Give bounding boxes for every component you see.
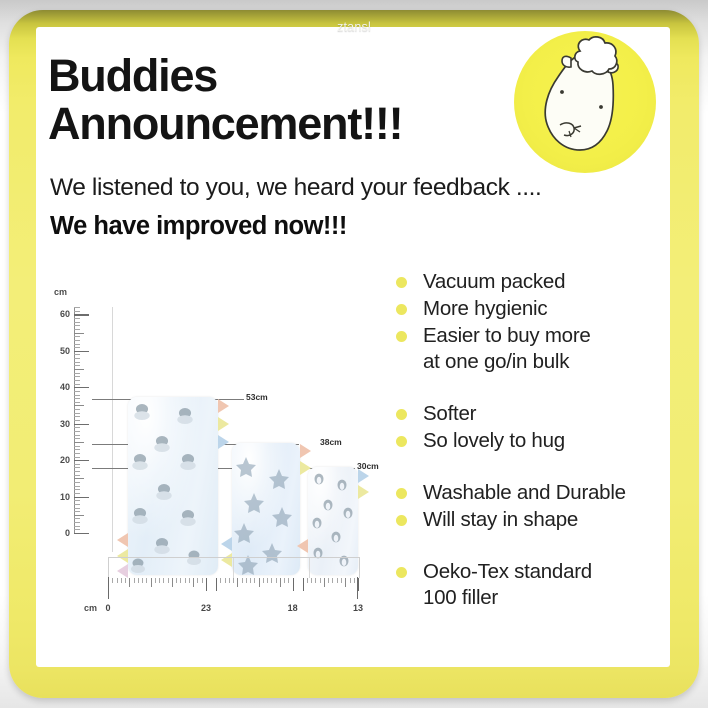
title-line-2: Announcement!!! [48, 100, 518, 148]
sheep-motif-pattern [128, 397, 218, 575]
list-item: So lovely to hug [392, 428, 662, 454]
subtitle-bold: We have improved now!!! [50, 212, 347, 241]
x-tick-minor [337, 578, 338, 583]
list-item-label: So lovely to hug [423, 429, 565, 452]
y-tick-minor [74, 522, 80, 523]
size-chart: cm 0102030405060 53cm 38cm 30cm [46, 287, 376, 632]
list-item-label: Oeko-Tex standard [423, 560, 592, 583]
x-tick-minor [233, 578, 234, 583]
x-tick-minor [146, 578, 147, 583]
feature-group-4: Oeko-Tex standard 100 filler [392, 559, 662, 611]
x-tick-minor [341, 578, 342, 583]
x-tick-minor [237, 578, 238, 587]
y-tick-label: 0 [65, 528, 70, 538]
x-tick-minor [320, 578, 321, 583]
list-item-label: Easier to buy more [423, 324, 591, 347]
y-tick-minor [74, 405, 84, 406]
y-axis-unit-label: cm [54, 287, 67, 297]
y-tick-minor [74, 475, 80, 476]
y-tick-label: 60 [60, 309, 70, 319]
list-item: Will stay in shape [392, 507, 662, 533]
y-tick-minor [74, 431, 80, 432]
x-tick-minor [229, 578, 230, 583]
y-tick-minor [74, 489, 80, 490]
pillow-large-tag-4 [117, 533, 128, 547]
y-tick-minor [74, 358, 80, 359]
list-item-label: More hygienic [423, 297, 547, 320]
y-tick-minor [74, 398, 80, 399]
feature-list: Vacuum packed More hygienic Easier to bu… [392, 269, 662, 612]
bullet-dot-icon [396, 409, 407, 420]
list-item: Easier to buy more at one go/in bulk [392, 323, 662, 375]
x-tick-minor [112, 578, 113, 583]
y-tick-major: 50 [74, 351, 89, 352]
pillow-medium [232, 443, 300, 575]
y-tick-minor [74, 391, 80, 392]
x-tick-minor [250, 578, 251, 583]
y-tick-minor [74, 413, 80, 414]
y-tick-minor [74, 333, 84, 334]
y-tick-minor [74, 384, 80, 385]
x-tick-minor [350, 578, 351, 583]
y-tick-minor [74, 376, 80, 377]
list-item-label-cont: 100 filler [423, 585, 662, 611]
bullet-dot-icon [396, 331, 407, 342]
y-tick-label: 40 [60, 382, 70, 392]
y-tick-minor [74, 518, 80, 519]
x-tick-minor [117, 578, 118, 583]
x-axis-unit-label: cm [84, 603, 97, 613]
y-tick-minor [74, 467, 80, 468]
x-tick-minor [180, 578, 181, 583]
y-tick-minor [74, 442, 84, 443]
x-tick-minor [271, 578, 272, 583]
y-tick-minor [74, 457, 80, 458]
y-tick-minor [74, 493, 80, 494]
subtitle: We listened to you, we heard your feedba… [50, 174, 541, 202]
pillow-large-tag-3 [218, 435, 229, 449]
x-tick-minor [193, 578, 194, 587]
x-tick-minor [280, 578, 281, 587]
x-tick-major [206, 578, 207, 591]
y-tick-minor [74, 373, 80, 374]
y-tick-minor [74, 486, 80, 487]
x-tick-minor [242, 578, 243, 583]
list-item: Oeko-Tex standard 100 filler [392, 559, 662, 611]
y-tick-minor [74, 464, 80, 465]
x-tick-minor [354, 578, 355, 583]
x-tick-minor [189, 578, 190, 583]
pillow-medium-tag-3 [221, 537, 232, 551]
y-tick-minor [74, 482, 80, 483]
x-tick-minor [159, 578, 160, 583]
list-item-label: Washable and Durable [423, 481, 626, 504]
bullet-dot-icon [396, 488, 407, 499]
list-item-label-cont: at one go/in bulk [423, 349, 662, 375]
x-tick-minor [284, 578, 285, 583]
y-tick-minor [74, 500, 80, 501]
x-tick-minor [254, 578, 255, 583]
x-tick-minor [129, 578, 130, 587]
x-tick-minor [202, 578, 203, 583]
feature-group-3: Washable and Durable Will stay in shape [392, 480, 662, 533]
x-tick-minor [332, 578, 333, 583]
bullet-dot-icon [396, 277, 407, 288]
x-tick-minor [134, 578, 135, 583]
list-item: Softer [392, 401, 662, 427]
pillow-small-tag-3 [297, 539, 308, 553]
y-tick-minor [74, 511, 80, 512]
x-tick-minor [324, 578, 325, 587]
poster-canvas: ztansl Buddies Announcement!!! We listen… [0, 0, 708, 708]
bracket-divider-2 [309, 558, 310, 578]
y-tick-major: 30 [74, 424, 89, 425]
y-tick-minor [74, 325, 80, 326]
list-item-label: Vacuum packed [423, 270, 565, 293]
y-tick-label: 20 [60, 455, 70, 465]
y-tick-label: 50 [60, 346, 70, 356]
x-tick-minor [138, 578, 139, 583]
y-tick-minor [74, 409, 80, 410]
x-tick-label: 23 [201, 603, 211, 613]
y-tick-minor [74, 449, 80, 450]
x-tick-minor [345, 578, 346, 587]
y-tick-minor [74, 347, 80, 348]
pillow-large-tag-1 [218, 399, 229, 413]
y-tick-minor [74, 420, 80, 421]
y-tick-minor [74, 478, 84, 479]
y-tick-minor [74, 395, 80, 396]
y-tick-minor [74, 402, 80, 403]
x-tick-minor [168, 578, 169, 583]
x-tick-minor [220, 578, 221, 583]
y-tick-major: 0 [74, 533, 89, 534]
y-tick-minor [74, 416, 80, 417]
bullet-dot-icon [396, 304, 407, 315]
y-tick-minor [74, 446, 80, 447]
x-tick-minor [142, 578, 143, 583]
x-tick-minor [259, 578, 260, 587]
y-tick-minor [74, 336, 80, 337]
x-tick-minor [172, 578, 173, 587]
vertical-ruler: 0102030405060 [74, 307, 93, 533]
y-tick-minor [74, 508, 80, 509]
list-item: Vacuum packed [392, 269, 662, 295]
x-tick-minor [328, 578, 329, 583]
x-tick-major [358, 578, 359, 591]
x-tick-minor [176, 578, 177, 583]
y-tick-minor [74, 307, 80, 308]
y-tick-minor [74, 435, 80, 436]
y-tick-minor [74, 362, 80, 363]
width-bracket [108, 557, 360, 578]
y-tick-minor [74, 471, 80, 472]
title-line-1: Buddies [48, 52, 518, 100]
y-tick-label: 10 [60, 492, 70, 502]
x-tick-minor [307, 578, 308, 583]
x-tick-label: 18 [288, 603, 298, 613]
pillow-small-tag-1 [358, 469, 369, 483]
watermark-text: ztansl [0, 20, 708, 34]
y-tick-minor [74, 369, 84, 370]
size-label-53: 53cm [246, 392, 268, 402]
size-label-38: 38cm [320, 437, 342, 447]
y-tick-minor [74, 453, 80, 454]
y-tick-minor [74, 438, 80, 439]
poster-card: Buddies Announcement!!! We listened to y… [36, 27, 670, 667]
y-tick-major: 60 [74, 314, 89, 315]
y-tick-major: 40 [74, 387, 89, 388]
list-item: Washable and Durable [392, 480, 662, 506]
pillow-large [128, 397, 218, 575]
y-tick-minor [74, 526, 80, 527]
chart-guide-line [112, 307, 113, 552]
y-tick-minor [74, 515, 84, 516]
y-tick-minor [74, 529, 80, 530]
feature-group-2: Softer So lovely to hug [392, 401, 662, 454]
x-tick-minor [263, 578, 264, 583]
pillow-large-tag-2 [218, 417, 229, 431]
y-tick-minor [74, 354, 80, 355]
x-tick-minor [121, 578, 122, 583]
x-tick-minor [276, 578, 277, 583]
x-tick-label: 13 [353, 603, 363, 613]
y-tick-minor [74, 311, 80, 312]
x-tick-minor [185, 578, 186, 583]
x-tick-minor [315, 578, 316, 583]
bullet-dot-icon [396, 567, 407, 578]
x-tick-minor [267, 578, 268, 583]
x-tick-minor [197, 578, 198, 583]
x-tick-major [108, 578, 109, 591]
y-tick-minor [74, 380, 80, 381]
y-tick-minor [74, 504, 80, 505]
sheep-icon [514, 31, 656, 173]
y-tick-minor [74, 427, 80, 428]
y-tick-major: 20 [74, 460, 89, 461]
x-tick-minor [288, 578, 289, 583]
bullet-dot-icon [396, 436, 407, 447]
pillow-medium-tag-1 [300, 444, 311, 458]
y-tick-minor [74, 344, 80, 345]
pillow-small-tag-2 [358, 485, 369, 499]
feature-group-1: Vacuum packed More hygienic Easier to bu… [392, 269, 662, 375]
y-tick-major: 10 [74, 497, 89, 498]
x-tick-label: 0 [105, 603, 110, 613]
page-title: Buddies Announcement!!! [48, 52, 518, 148]
list-item-label: Will stay in shape [423, 508, 578, 531]
star-motif-pattern [232, 443, 300, 575]
x-tick-minor [155, 578, 156, 583]
y-tick-minor [74, 322, 80, 323]
y-tick-minor [74, 318, 80, 319]
y-tick-label: 30 [60, 419, 70, 429]
y-tick-minor [74, 340, 80, 341]
x-tick-minor [125, 578, 126, 583]
x-tick-major [293, 578, 294, 591]
list-item-label: Softer [423, 402, 476, 425]
x-tick-major [303, 578, 304, 591]
x-tick-minor [151, 578, 152, 587]
y-tick-minor [74, 365, 80, 366]
bullet-dot-icon [396, 515, 407, 526]
x-tick-major [216, 578, 217, 591]
x-tick-minor [311, 578, 312, 583]
x-tick-minor [225, 578, 226, 583]
y-tick-minor [74, 329, 80, 330]
x-tick-minor [163, 578, 164, 583]
sheep-logo [514, 31, 656, 173]
list-item: More hygienic [392, 296, 662, 322]
x-tick-minor [246, 578, 247, 583]
horizontal-ruler: 0231813 [108, 577, 358, 599]
bracket-divider-1 [233, 558, 234, 578]
